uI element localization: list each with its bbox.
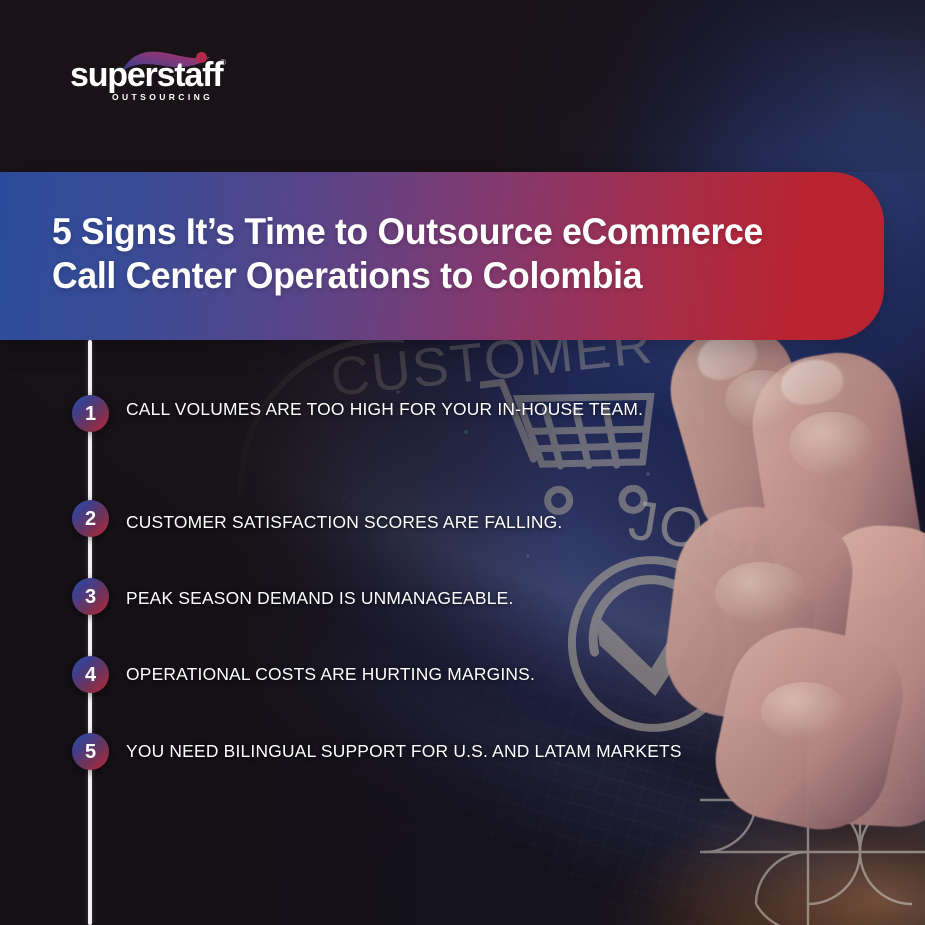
list-item-badge-5: 5 [72,733,109,770]
list-item-text-5: YOU NEED BILINGUAL SUPPORT FOR U.S. AND … [126,732,706,770]
list-item-text-1: CALL VOLUMES ARE TOO HIGH FOR YOUR IN-HO… [126,390,726,428]
list-item-text-2: CUSTOMER SATISFACTION SCORES ARE FALLING… [126,503,726,541]
list-item-badge-3: 3 [72,578,109,615]
list-item-text-3: PEAK SEASON DEMAND IS UNMANAGEABLE. [126,579,726,617]
list-item-badge-4: 4 [72,656,109,693]
list-item-badge-1: 1 [72,395,109,432]
infographic-canvas: CUSTOMER JOURNEY [0,0,925,925]
list-item-badge-2: 2 [72,500,109,537]
list-item-text-4: OPERATIONAL COSTS ARE HURTING MARGINS. [126,655,726,693]
signs-list: 1 CALL VOLUMES ARE TOO HIGH FOR YOUR IN-… [0,0,925,925]
